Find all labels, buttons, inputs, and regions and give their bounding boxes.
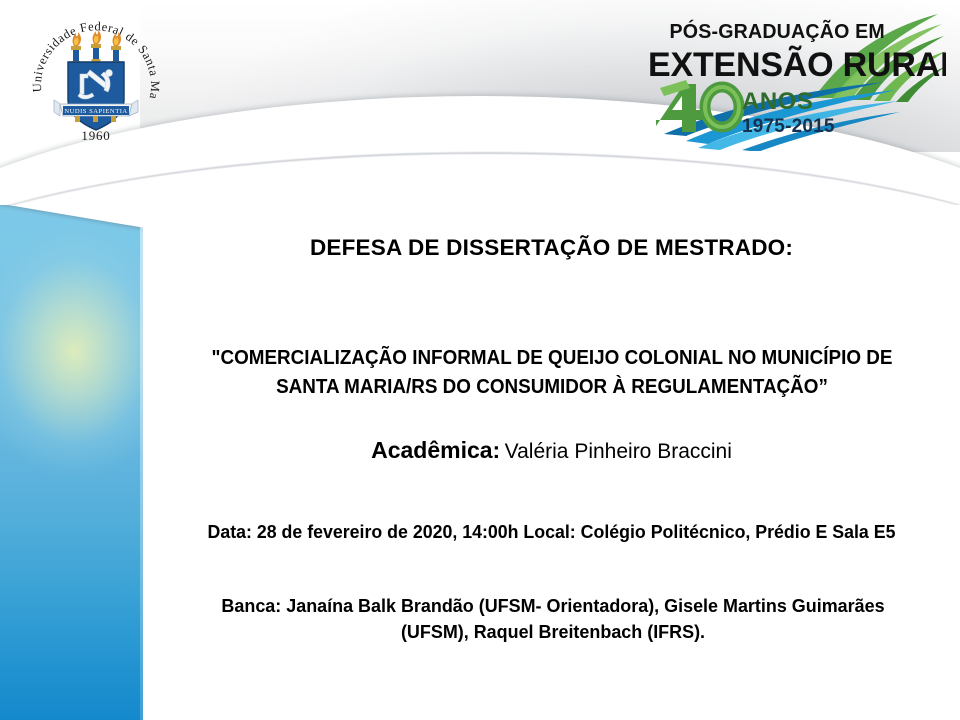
anniversary-badge: ANOS 1975-2015 — [656, 80, 835, 137]
slide-heading: DEFESA DE DISSERTAÇÃO DE MESTRADO: — [143, 235, 960, 261]
committee-members: Banca: Janaína Balk Brandão (UFSM- Orien… — [194, 593, 912, 645]
pos-graduacao-extensao-rural-logo: PÓS-GRADUAÇÃO EM EXTENSÃO RURAL ANOS 197… — [646, 6, 946, 151]
slide-header: Universidade Federal de Santa Maria — [0, 0, 960, 205]
svg-text:NUDIS SAPIENTIA: NUDIS SAPIENTIA — [64, 108, 127, 115]
left-blue-sidebar — [0, 186, 143, 720]
logo-line2: EXTENSÃO RURAL — [648, 46, 946, 84]
slide-body: DEFESA DE DISSERTAÇÃO DE MESTRADO: "COME… — [143, 205, 960, 720]
ufsm-crest-logo: Universidade Federal de Santa Maria — [30, 12, 162, 160]
presentation-slide: Universidade Federal de Santa Maria — [0, 0, 960, 720]
student-label: Acadêmica: — [371, 437, 500, 463]
anniversary-years: 1975-2015 — [742, 116, 835, 137]
anniversary-word: ANOS — [742, 88, 813, 115]
student-name: Valéria Pinheiro Braccini — [505, 440, 732, 463]
dissertation-title: "COMERCIALIZAÇÃO INFORMAL DE QUEIJO COLO… — [198, 343, 906, 401]
student-line: Acadêmica: Valéria Pinheiro Braccini — [143, 437, 960, 464]
logo-line1: PÓS-GRADUAÇÃO EM — [670, 19, 885, 43]
date-time-location: Data: 28 de fevereiro de 2020, 14:00h Lo… — [159, 521, 943, 543]
crest-year: 1960 — [81, 128, 110, 143]
